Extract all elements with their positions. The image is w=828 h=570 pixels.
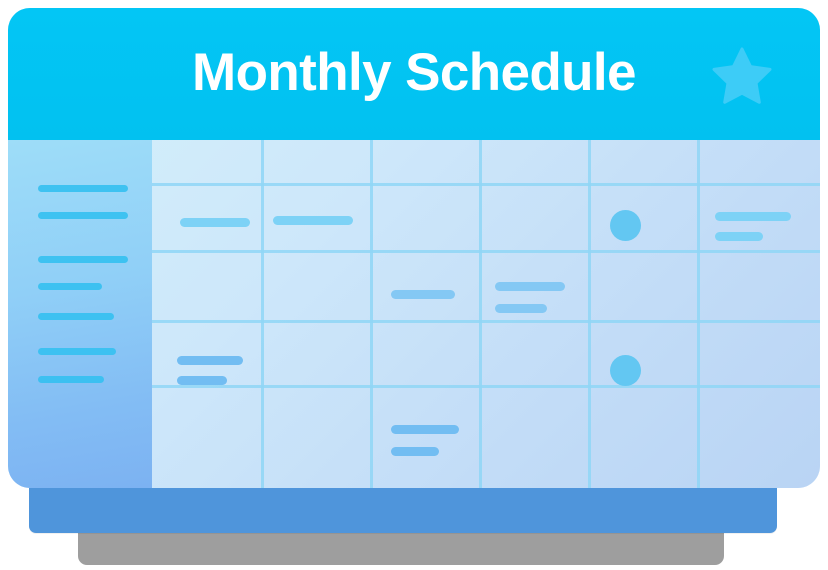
- schedule-label-column: [8, 140, 152, 488]
- star-icon: [711, 46, 773, 108]
- sidebar-placeholder-line: [38, 256, 128, 263]
- grid-column-divider: [588, 140, 591, 488]
- cell-r4c3-line-1: [391, 425, 459, 434]
- grid-row-divider: [152, 385, 820, 388]
- sidebar-placeholder-line: [38, 376, 104, 383]
- schedule-grid: [8, 140, 820, 488]
- sidebar-placeholder-line: [38, 348, 116, 355]
- sidebar-placeholder-line: [38, 313, 114, 320]
- card-header: Monthly Schedule: [8, 8, 820, 140]
- schedule-card: Monthly Schedule: [8, 8, 820, 488]
- cell-r1c5-dot: [610, 210, 641, 241]
- page-title: Monthly Schedule: [8, 8, 820, 140]
- cell-r2c3-line: [391, 290, 455, 299]
- cell-r1c6-line-2: [715, 232, 763, 241]
- cell-r1c6-line-1: [715, 212, 791, 221]
- grid-row-divider: [152, 250, 820, 253]
- monitor-stand: [29, 487, 777, 533]
- sidebar-placeholder-line: [38, 212, 128, 219]
- grid-column-divider: [479, 140, 482, 488]
- monitor-base: [78, 531, 724, 565]
- grid-row-divider: [152, 320, 820, 323]
- schedule-illustration: Monthly Schedule: [0, 0, 828, 570]
- grid-column-divider: [370, 140, 373, 488]
- cell-r3c1-line-2: [177, 376, 227, 385]
- grid-column-divider: [697, 140, 700, 488]
- cell-r3c5-dot: [610, 355, 641, 386]
- grid-column-divider: [261, 140, 264, 488]
- sidebar-placeholder-line: [38, 185, 128, 192]
- cell-r3c1-line-1: [177, 356, 243, 365]
- cell-r2c4-line-1: [495, 282, 565, 291]
- cell-r4c3-line-2: [391, 447, 439, 456]
- cell-r2c4-line-2: [495, 304, 547, 313]
- grid-row-divider: [152, 183, 820, 186]
- sidebar-placeholder-line: [38, 283, 102, 290]
- cell-r1c2-line: [273, 216, 353, 225]
- cell-r1c1-line: [180, 218, 250, 227]
